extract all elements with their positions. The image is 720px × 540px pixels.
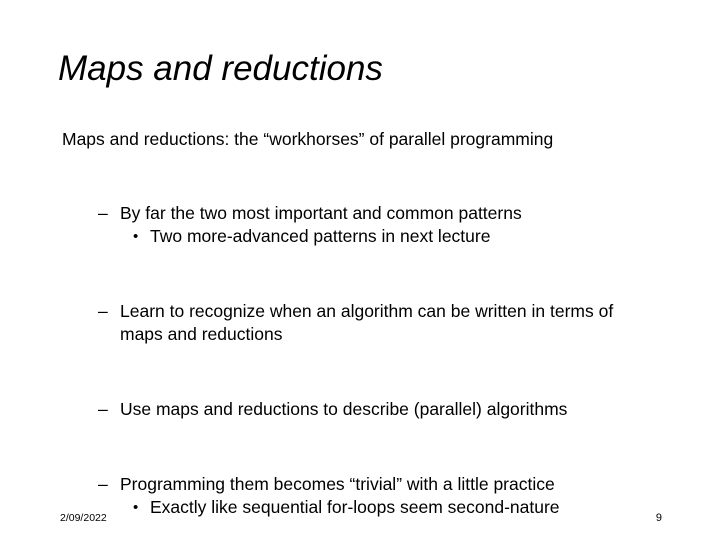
footer-date: 2/09/2022 xyxy=(60,512,107,525)
list-item: – Learn to recognize when an algorithm c… xyxy=(98,300,633,346)
list-item: • Two more-advanced patterns in next lec… xyxy=(133,225,633,248)
dot-bullet-icon: • xyxy=(133,496,150,519)
list-item: – Programming them becomes “trivial” wit… xyxy=(98,473,633,496)
dash-bullet-icon: – xyxy=(98,473,120,496)
list-item-label: Exactly like sequential for-loops seem s… xyxy=(150,496,633,519)
list-item-label: Learn to recognize when an algorithm can… xyxy=(120,300,633,346)
spacer xyxy=(0,151,720,178)
dash-bullet-icon: – xyxy=(98,300,120,323)
lead-paragraph: Maps and reductions: the “workhorses” of… xyxy=(62,128,720,151)
list-item: • Exactly like sequential for-loops seem… xyxy=(133,496,633,519)
list-item-label: By far the two most important and common… xyxy=(120,202,633,225)
spacer xyxy=(0,448,720,473)
spacer xyxy=(0,421,720,448)
footer-page-number: 9 xyxy=(656,512,662,525)
dot-bullet-icon: • xyxy=(133,225,150,248)
dash-bullet-icon: – xyxy=(98,202,120,225)
spacer xyxy=(0,346,720,373)
list-item-label: Use maps and reductions to describe (par… xyxy=(120,398,633,421)
list-item-label: Programming them becomes “trivial” with … xyxy=(120,473,633,496)
list-item: – By far the two most important and comm… xyxy=(98,202,633,225)
spacer xyxy=(0,178,720,202)
spacer xyxy=(0,373,720,398)
slide-canvas: Maps and reductions Maps and reductions:… xyxy=(0,0,720,540)
spacer xyxy=(0,275,720,300)
spacer xyxy=(0,248,720,275)
page-title: Maps and reductions xyxy=(58,48,658,90)
slide-body: Maps and reductions: the “workhorses” of… xyxy=(0,128,720,519)
dash-bullet-icon: – xyxy=(98,398,120,421)
list-item-label: Two more-advanced patterns in next lectu… xyxy=(150,225,633,248)
list-item: – Use maps and reductions to describe (p… xyxy=(98,398,633,421)
